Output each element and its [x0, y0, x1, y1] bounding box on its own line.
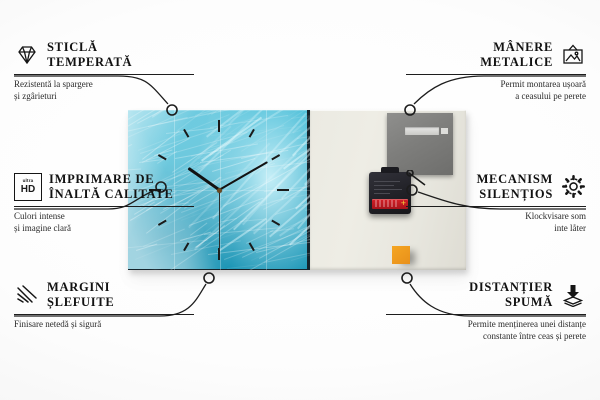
clock-tick-mark: [249, 129, 255, 138]
callout-header: MARGINI ȘLEFUITE: [14, 280, 194, 310]
callout-header: ultra HD IMPRIMARE DE ÎNALTĂ CALITATE: [14, 172, 194, 202]
mechanism-tab: [381, 167, 399, 173]
clock-tick-mark: [158, 154, 167, 160]
mechanism-detail: [374, 181, 400, 182]
callout-tempered-glass: STICLĂ TEMPERATĂ Rezistentă la spargere …: [14, 40, 194, 102]
clock-tick: [219, 189, 289, 191]
infographic-canvas: STICLĂ TEMPERATĂ Rezistentă la spargere …: [0, 0, 600, 400]
connector-dot: [204, 273, 214, 283]
battery: [372, 199, 408, 209]
clock-tick: [218, 120, 220, 190]
ultra-hd-icon-top: ultra: [23, 179, 34, 184]
foam-spacer-icon: [560, 282, 586, 308]
clock-tick-mark: [183, 129, 189, 138]
callout-title: MECANISM SILENȚIOS: [477, 172, 553, 202]
mechanism-detail: [374, 193, 390, 194]
callout-high-quality-print: ultra HD IMPRIMARE DE ÎNALTĂ CALITATE Cu…: [14, 172, 194, 234]
callout-foam-spacer: DISTANȚIER SPUMĂ Permite menținerea unei…: [386, 280, 586, 342]
callout-title: MARGINI ȘLEFUITE: [47, 280, 114, 310]
callout-rule: [406, 206, 586, 207]
ultra-hd-icon: ultra HD: [14, 173, 42, 201]
hanger-slot: [405, 127, 439, 135]
mechanism-detail: [374, 185, 394, 186]
callout-title: MÂNERE METALICE: [480, 40, 553, 70]
callout-subtitle: Permit montarea ușoară a ceasului pe per…: [406, 78, 586, 102]
callout-title: STICLĂ TEMPERATĂ: [47, 40, 132, 70]
clock-tick-mark: [271, 220, 280, 226]
foam-spacer: [392, 246, 410, 264]
callout-rule: [406, 74, 586, 75]
battery-label: [375, 200, 398, 207]
callout-subtitle: Klockvisare som inte låter: [406, 210, 586, 234]
clock-tick-mark: [183, 242, 189, 251]
clock-center-pin: [217, 188, 222, 193]
ultra-hd-icon-bottom: HD: [21, 185, 35, 195]
clock-tick-mark: [249, 242, 255, 251]
callout-subtitle: Permite menținerea unei distanțe constan…: [386, 318, 586, 342]
callout-header: MÂNERE METALICE: [406, 40, 586, 70]
callout-title: DISTANȚIER SPUMĂ: [469, 280, 553, 310]
clock-tick-mark: [271, 154, 280, 160]
callout-rule: [14, 74, 194, 75]
callout-polished-edges: MARGINI ȘLEFUITE Finisare netedă și sigu…: [14, 280, 194, 330]
callout-header: STICLĂ TEMPERATĂ: [14, 40, 194, 70]
clock-tick-mark: [218, 120, 220, 132]
metal-hanger-plate: [387, 113, 453, 175]
callout-metal-hangers: MÂNERE METALICE Permit montarea ușoară a…: [406, 40, 586, 102]
polished-edges-icon: [14, 282, 40, 308]
callout-rule: [386, 314, 586, 315]
callout-subtitle: Culori intense și imagine clară: [14, 210, 194, 234]
callout-subtitle: Finisare netedă și sigură: [14, 318, 194, 330]
callout-rule: [14, 206, 194, 207]
callout-silent-mechanism: MECANISM SILENȚIOS Klockvisare som inte …: [406, 172, 586, 234]
clock-tick-mark: [277, 189, 289, 191]
clock-mechanism: [369, 172, 411, 214]
callout-title: IMPRIMARE DE ÎNALTĂ CALITATE: [49, 172, 174, 202]
callout-rule: [14, 314, 194, 315]
diamond-icon: [14, 42, 40, 68]
picture-hanger-icon: [560, 42, 586, 68]
gear-icon: [560, 174, 586, 200]
callout-header: MECANISM SILENȚIOS: [406, 172, 586, 202]
clock-tick: [218, 129, 255, 191]
mechanism-detail: [374, 189, 402, 190]
clock-second-hand: [219, 190, 220, 250]
callout-subtitle: Rezistentă la spargere și zgârieturi: [14, 78, 194, 102]
callout-header: DISTANȚIER SPUMĂ: [386, 280, 586, 310]
